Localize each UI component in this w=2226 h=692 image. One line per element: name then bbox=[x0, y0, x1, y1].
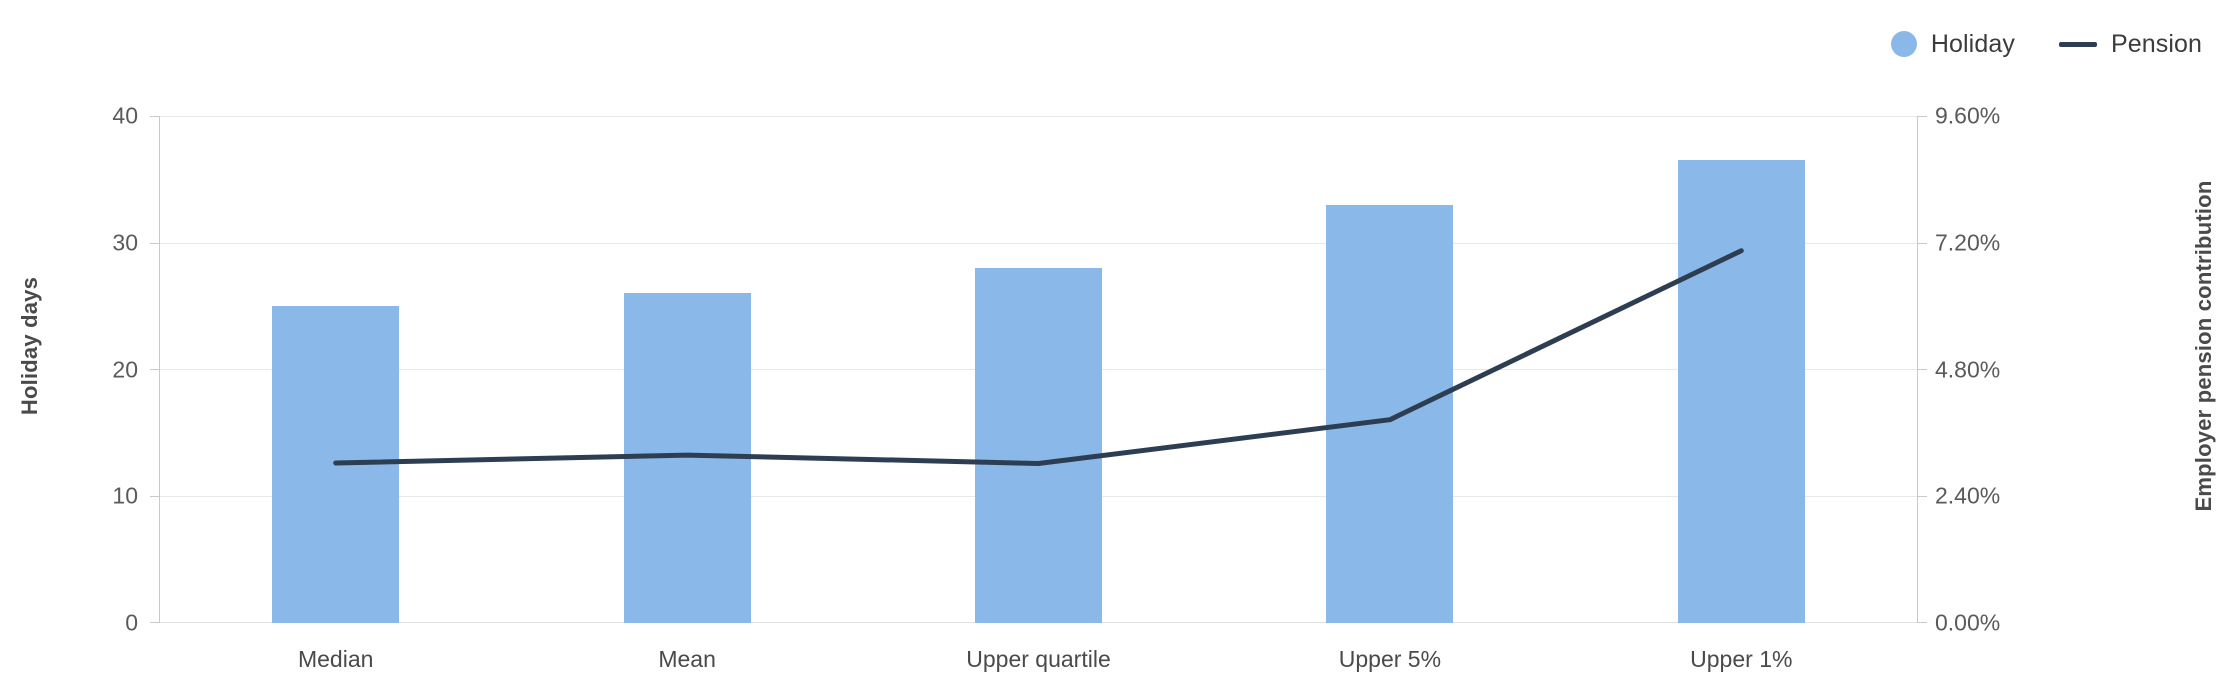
line-icon bbox=[2059, 42, 2097, 47]
bar-upper-5[interactable] bbox=[1326, 205, 1453, 623]
y-tick-right-240: 2.40% bbox=[1935, 485, 2000, 508]
y-axis-right-ticks: 9.60% 7.20% 4.80% 2.40% 0.00% bbox=[1935, 116, 2065, 623]
y-tick-left-10: 10 bbox=[112, 485, 138, 508]
chart-container: Holiday Pension Holiday days Employer pe… bbox=[0, 0, 2226, 692]
x-tick-upper-5: Upper 5% bbox=[1339, 648, 1441, 671]
x-tick-upper-quartile: Upper quartile bbox=[966, 648, 1110, 671]
x-tick-upper-1: Upper 1% bbox=[1690, 648, 1792, 671]
tick-mark-left-30 bbox=[150, 243, 159, 244]
tick-mark-right-480 bbox=[1918, 369, 1927, 370]
y-tick-left-40: 40 bbox=[112, 105, 138, 128]
legend-label-pension: Pension bbox=[2111, 30, 2202, 59]
tick-mark-right-960 bbox=[1918, 116, 1927, 117]
y-tick-right-960: 9.60% bbox=[1935, 105, 2000, 128]
y-tick-right-720: 7.20% bbox=[1935, 231, 2000, 254]
tick-mark-right-720 bbox=[1918, 243, 1927, 244]
y-tick-left-0: 0 bbox=[125, 612, 138, 635]
y-tick-right-000: 0.00% bbox=[1935, 612, 2000, 635]
gridline-40 bbox=[160, 116, 1917, 117]
y-tick-left-30: 30 bbox=[112, 231, 138, 254]
x-tick-median: Median bbox=[298, 648, 373, 671]
plot-area bbox=[160, 116, 1917, 623]
y-axis-left-spine bbox=[159, 116, 160, 623]
y-axis-left-title: Holiday days bbox=[17, 216, 43, 476]
bar-upper-1[interactable] bbox=[1678, 160, 1805, 623]
x-tick-mean: Mean bbox=[658, 648, 716, 671]
tick-mark-left-0 bbox=[150, 622, 159, 623]
chart-legend: Holiday Pension bbox=[1891, 22, 2202, 66]
gridline-30 bbox=[160, 243, 1917, 244]
dot-icon bbox=[1891, 31, 1917, 57]
y-tick-right-480: 4.80% bbox=[1935, 358, 2000, 381]
legend-item-pension[interactable]: Pension bbox=[2059, 30, 2202, 59]
legend-item-holiday[interactable]: Holiday bbox=[1891, 30, 2015, 59]
y-axis-left-ticks: 40 30 20 10 0 bbox=[60, 116, 138, 623]
tick-mark-left-20 bbox=[150, 369, 159, 370]
y-tick-left-20: 20 bbox=[112, 358, 138, 381]
tick-mark-left-10 bbox=[150, 496, 159, 497]
tick-mark-left-40 bbox=[150, 116, 159, 117]
bar-mean[interactable] bbox=[624, 293, 751, 623]
tick-mark-right-000 bbox=[1918, 622, 1927, 623]
y-axis-right-title: Employer pension contribution bbox=[2191, 136, 2217, 556]
bar-upper-quartile[interactable] bbox=[975, 268, 1102, 623]
tick-mark-right-240 bbox=[1918, 496, 1927, 497]
bar-median[interactable] bbox=[272, 306, 399, 623]
legend-label-holiday: Holiday bbox=[1931, 30, 2015, 59]
